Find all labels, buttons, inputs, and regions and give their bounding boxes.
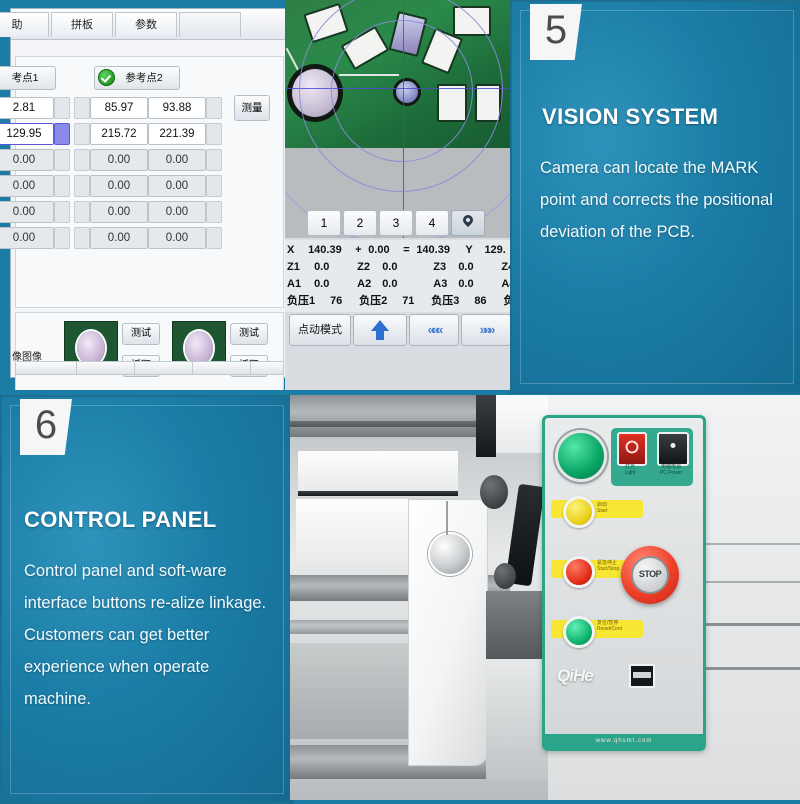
readout-a4-label: A4 (501, 276, 510, 293)
arrow-up-icon[interactable] (353, 314, 407, 346)
reference-point-1-button[interactable]: 考点1 (0, 66, 56, 90)
brand-logo: QiHe (557, 666, 593, 686)
page-title: VISION SYSTEM (542, 104, 718, 130)
camera-slot-2-button[interactable]: 2 (343, 210, 377, 236)
readout-vacuum1-label: 负压1 (287, 293, 327, 310)
readout-axis-y-label: Y (465, 242, 481, 259)
brand-website: www.qhsmt.com (545, 734, 703, 748)
light-rocker-switch[interactable] (617, 432, 647, 466)
camera-slot-1-button[interactable]: 1 (307, 210, 341, 236)
feature-number-badge: 5 (530, 4, 582, 60)
table-cell[interactable]: 0.00 (90, 227, 148, 249)
machine-slab (298, 451, 458, 491)
status-bar (15, 361, 284, 375)
operator-control-panel: 灯光 Light 电脑电源 PC Power 启动 Start 紧急停止 S (542, 415, 706, 751)
pc-power-rocker-switch[interactable] (657, 432, 689, 466)
readout-x-offset: 0.00 (368, 242, 400, 259)
feature-description: Control panel and soft-ware interface bu… (24, 555, 278, 715)
table-cell[interactable]: 0.00 (148, 227, 206, 249)
table-cell[interactable]: 0.00 (90, 149, 148, 171)
readout-x-total: 140.39 (416, 242, 462, 259)
chevrons-left-icon[interactable]: ««« (409, 314, 459, 346)
software-screenshot-panel: 助 拼板 参数 考点1 参考点2 2.81 129.95 0.00 0.00 0… (0, 0, 285, 390)
camera-slot-4-button[interactable]: 4 (415, 210, 449, 236)
readout-axis-x-label: X (287, 242, 305, 259)
table-cell[interactable]: 221.39 (148, 123, 206, 145)
readout-vacuum1-value: 76 (330, 293, 356, 310)
table-cell[interactable]: 0.00 (148, 149, 206, 171)
tab-extra[interactable] (179, 12, 241, 37)
table-cell[interactable]: 85.97 (90, 97, 148, 119)
test-button-2[interactable]: 测试 (230, 323, 268, 345)
power-green-button[interactable] (555, 430, 607, 482)
axis-readout: X 140.39 + 0.00 = 140.39 Y 129. Z1 0.0 Z… (285, 240, 510, 312)
readout-vacuum2-value: 71 (402, 293, 428, 310)
readout-x-eq: = (403, 242, 413, 259)
light-switch-label: 灯光 Light (613, 464, 647, 476)
table-cell[interactable]: 2.81 (0, 97, 54, 119)
table-cell[interactable]: 0.00 (90, 201, 148, 223)
software-window: 助 拼板 参数 考点1 参考点2 2.81 129.95 0.00 0.00 0… (10, 8, 285, 378)
jog-control-row: 点动模式 ««« »»» (285, 314, 510, 346)
usb-port-icon[interactable] (629, 664, 655, 688)
readout-vacuum4-label: 负压4 (503, 293, 510, 310)
readout-a1-value: 0.0 (314, 276, 354, 293)
table-cell[interactable]: 0.00 (0, 227, 54, 249)
pc-power-switch-label: 电脑电源 PC Power (651, 464, 691, 476)
readout-z4-label: Z4 (501, 259, 510, 276)
machine-photo-panel: 灯光 Light 电脑电源 PC Power 启动 Start 紧急停止 S (290, 395, 800, 800)
start-lamp-button[interactable] (563, 496, 595, 528)
camera-number-row: 1 2 3 4 (285, 210, 510, 238)
readout-x-value: 140.39 (308, 242, 352, 259)
feature-board: 助 拼板 参数 考点1 参考点2 2.81 129.95 0.00 0.00 0… (0, 0, 800, 800)
tab-help[interactable]: 助 (0, 12, 49, 37)
operator-panel-face: 灯光 Light 电脑电源 PC Power 启动 Start 紧急停止 S (545, 418, 703, 748)
start-button-label: 启动 Start (597, 502, 637, 514)
tab-panelize[interactable]: 拼板 (51, 12, 113, 37)
test-button-1[interactable]: 测试 (122, 323, 160, 345)
tab-parameters[interactable]: 参数 (115, 12, 177, 37)
readout-a2-label: A2 (357, 276, 379, 293)
readout-z3-label: Z3 (433, 259, 455, 276)
feature-panel-control-panel: 6 CONTROL PANEL Control panel and soft-w… (0, 395, 294, 804)
table-cell[interactable]: 0.00 (0, 149, 54, 171)
emergency-stop-label: STOP (631, 556, 669, 594)
readout-z1-value: 0.0 (314, 259, 354, 276)
readout-z2-label: Z2 (357, 259, 379, 276)
reference-point-group: 考点1 参考点2 2.81 129.95 0.00 0.00 0.00 0.00 (15, 56, 284, 308)
readout-z2-value: 0.0 (382, 259, 430, 276)
readout-x-op: + (355, 242, 365, 259)
tab-strip: 助 拼板 参数 (11, 9, 285, 40)
machine-knob (428, 532, 472, 576)
table-cell[interactable]: 0.00 (148, 175, 206, 197)
camera-slot-3-button[interactable]: 3 (379, 210, 413, 236)
feature-description: Camera can locate the MARK point and cor… (540, 152, 786, 248)
camera-live-view[interactable] (285, 0, 510, 238)
readout-z3-value: 0.0 (458, 259, 498, 276)
emergency-stop-button[interactable]: STOP (621, 546, 679, 604)
table-cell[interactable]: 129.95 (0, 123, 54, 145)
table-cell[interactable]: 215.72 (90, 123, 148, 145)
camera-panel: 1 2 3 4 X 140.39 + 0.00 = 140.39 Y 129. … (285, 0, 510, 390)
feature-panel-vision-system: 5 VISION SYSTEM Camera can locate the MA… (510, 0, 800, 394)
readout-vacuum3-value: 86 (474, 293, 500, 310)
page-title: CONTROL PANEL (24, 507, 217, 533)
table-cell[interactable]: 0.00 (0, 201, 54, 223)
stop-lamp-button[interactable] (563, 556, 595, 588)
readout-a3-label: A3 (433, 276, 455, 293)
software-body: 考点1 参考点2 2.81 129.95 0.00 0.00 0.00 0.00 (11, 40, 285, 377)
readout-z1-label: Z1 (287, 259, 311, 276)
check-circle-icon (98, 69, 115, 86)
readout-vacuum3-label: 负压3 (431, 293, 471, 310)
readout-vacuum2-label: 负压2 (359, 293, 399, 310)
table-cell[interactable]: 0.00 (90, 175, 148, 197)
readout-a2-value: 0.0 (382, 276, 430, 293)
readout-a1-label: A1 (287, 276, 311, 293)
image-capture-group: 像图像 测试 抓取 测试 抓取 (15, 312, 284, 390)
table-cell[interactable]: 0.00 (148, 201, 206, 223)
jog-mode-button[interactable]: 点动模式 (289, 314, 351, 346)
chevrons-right-icon[interactable]: »»» (461, 314, 510, 346)
table-cell[interactable]: 0.00 (0, 175, 54, 197)
feature-number-badge: 6 (20, 399, 72, 455)
reset-button-label: 复位/暂停 Reset/Cont (597, 620, 643, 632)
reset-lamp-button[interactable] (563, 616, 595, 648)
map-pin-icon[interactable] (451, 210, 485, 236)
readout-a3-value: 0.0 (458, 276, 498, 293)
readout-y-value: 129. (484, 242, 505, 259)
measure-button[interactable]: 测量 (234, 95, 270, 121)
table-cell[interactable]: 93.88 (148, 97, 206, 119)
